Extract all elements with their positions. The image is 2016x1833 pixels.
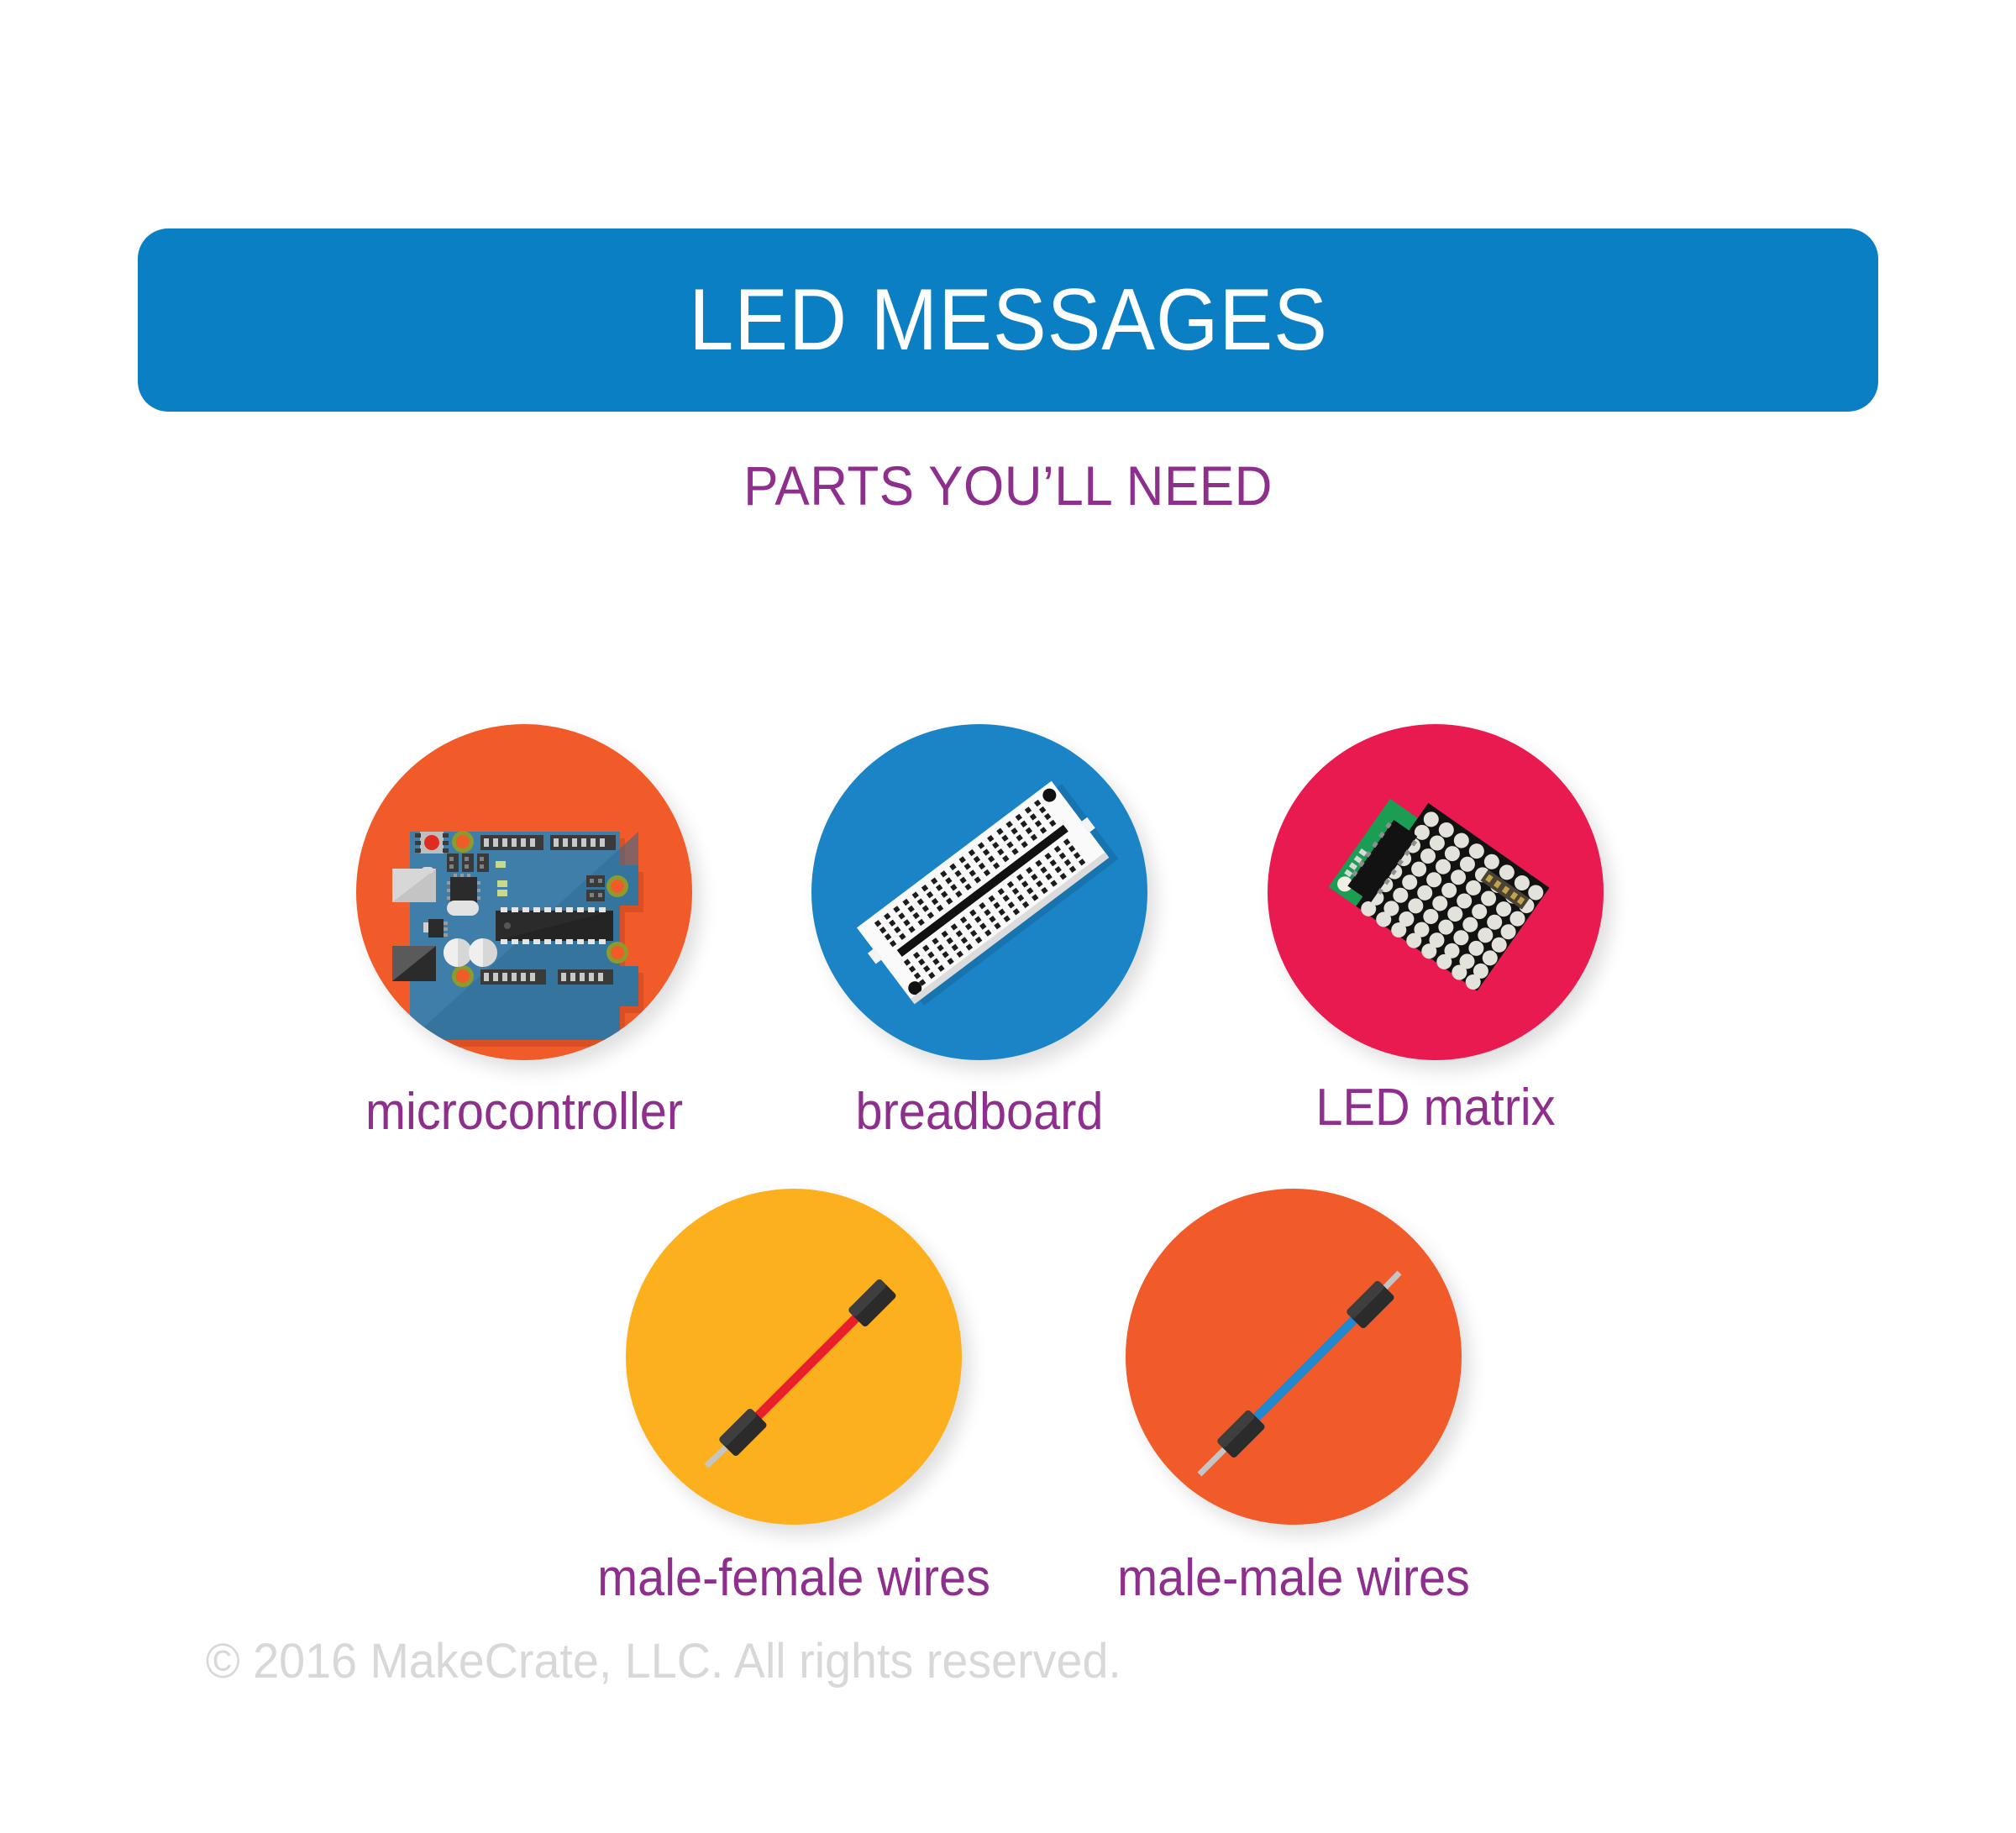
part-circle-led-matrix <box>1268 724 1604 1060</box>
part-label-led-matrix: LED matrix <box>1279 1078 1592 1137</box>
microcontroller-board-icon <box>356 724 692 1060</box>
breadboard-icon <box>811 724 1147 1060</box>
part-label-male-female-wires: male-female wires <box>559 1548 1028 1608</box>
part-circle-male-female-wires <box>626 1189 962 1525</box>
part-circle-microcontroller <box>356 724 692 1060</box>
part-label-breadboard: breadboard <box>823 1082 1136 1142</box>
male-male-jumper-wire-icon <box>1126 1189 1462 1525</box>
part-circle-breadboard <box>811 724 1147 1060</box>
led-matrix-icon <box>1268 724 1604 1060</box>
parts-grid: microcontroller breadboard LED matrix ma… <box>0 0 2016 1833</box>
part-circle-male-male-wires <box>1126 1189 1462 1525</box>
part-label-male-male-wires: male-male wires <box>1059 1548 1528 1608</box>
part-label-microcontroller: microcontroller <box>290 1082 759 1142</box>
male-female-jumper-wire-icon <box>626 1189 962 1525</box>
copyright-notice: © 2016 MakeCrate, LLC. All rights reserv… <box>206 1633 1121 1689</box>
